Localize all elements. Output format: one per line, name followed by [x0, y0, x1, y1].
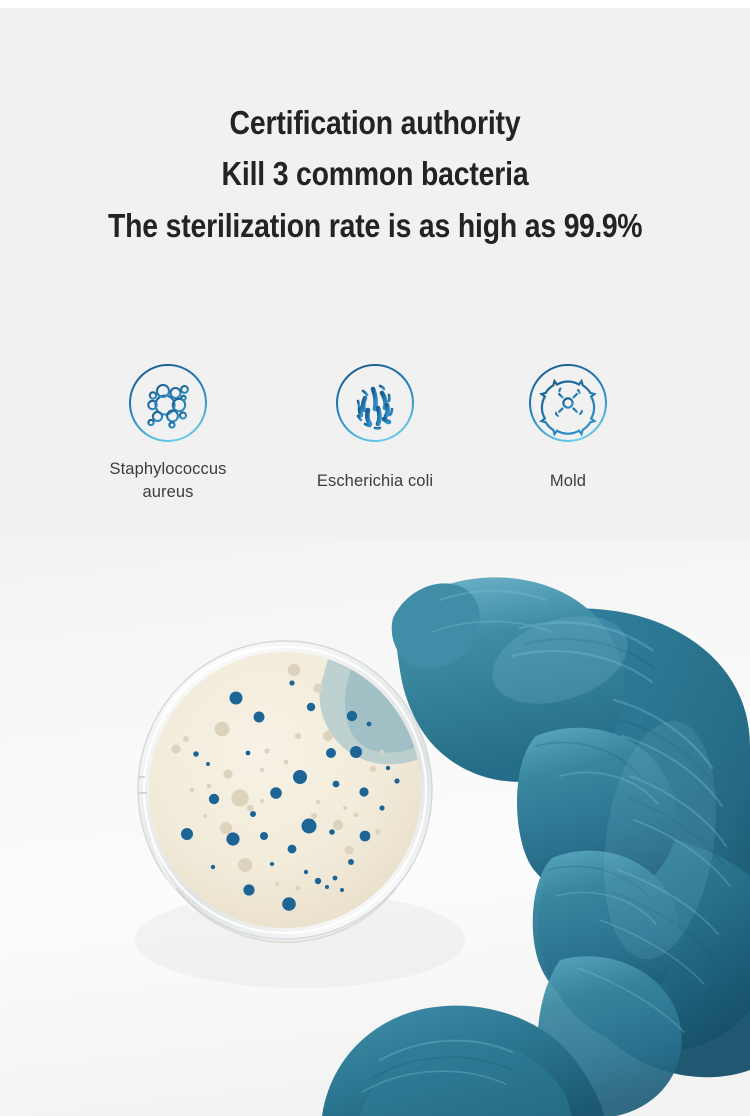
- bacteria-badge-row: Staphylococcus aureus: [0, 362, 750, 532]
- badge-escherichia-coli: Escherichia coli: [275, 362, 475, 493]
- top-white-strip: [0, 0, 750, 8]
- headline-line-3: The sterilization rate is as high as 99.…: [53, 200, 698, 252]
- staphylococcus-cluster-icon: [127, 362, 209, 444]
- promo-page: Certification authority Kill 3 common ba…: [0, 0, 750, 1116]
- ecoli-rods-icon: [334, 362, 416, 444]
- headline-line-3-prefix: The sterilization rate is as high as: [108, 207, 564, 244]
- badge-mold: Mold: [468, 362, 668, 493]
- headline-line-2: Kill 3 common bacteria: [53, 148, 698, 200]
- petri-dish-illustration: [0, 540, 750, 1116]
- petri-dish-photo: [0, 540, 750, 1116]
- badge-label-line-1: Staphylococcus: [110, 460, 227, 478]
- badge-staphylococcus-aureus: Staphylococcus aureus: [68, 362, 268, 504]
- badge-label-staphylococcus: Staphylococcus aureus: [68, 458, 268, 504]
- headline-block: Certification authority Kill 3 common ba…: [0, 98, 750, 252]
- badge-label-ecoli: Escherichia coli: [275, 470, 475, 493]
- badge-label-line-2: aureus: [142, 483, 193, 501]
- mold-spore-icon: [527, 362, 609, 444]
- badge-label-mold: Mold: [468, 470, 668, 493]
- headline-line-1: Certification authority: [53, 98, 698, 148]
- sterilization-rate-value: 99.9%: [564, 207, 642, 244]
